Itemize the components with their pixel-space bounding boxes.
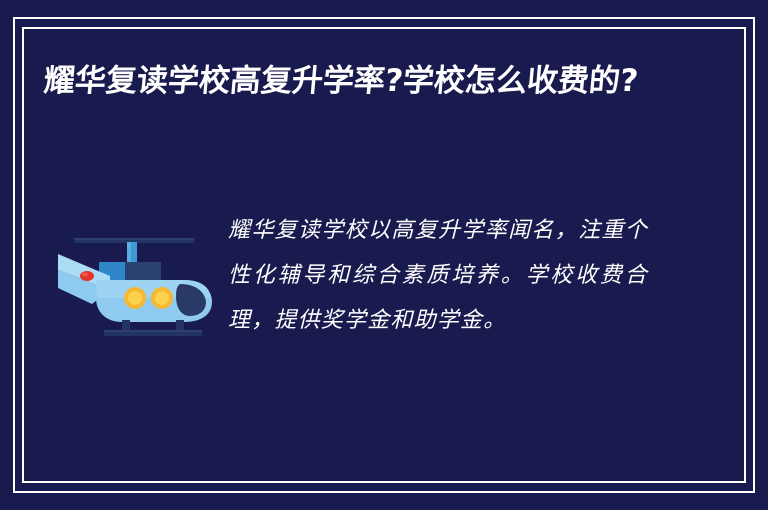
page-title: 耀华复读学校高复升学率?学校怎么收费的? <box>42 58 656 104</box>
article-body-text: 耀华复读学校以高复升学率闻名，注重个性化辅导和综合素质培养。学校收费合理，提供奖… <box>228 208 648 343</box>
poster-canvas: 耀华复读学校高复升学率?学校怎么收费的? <box>0 0 768 510</box>
beacon-light-icon <box>80 271 94 281</box>
helicopter-illustration <box>52 218 220 346</box>
engine-housing-dark-icon <box>125 262 161 282</box>
